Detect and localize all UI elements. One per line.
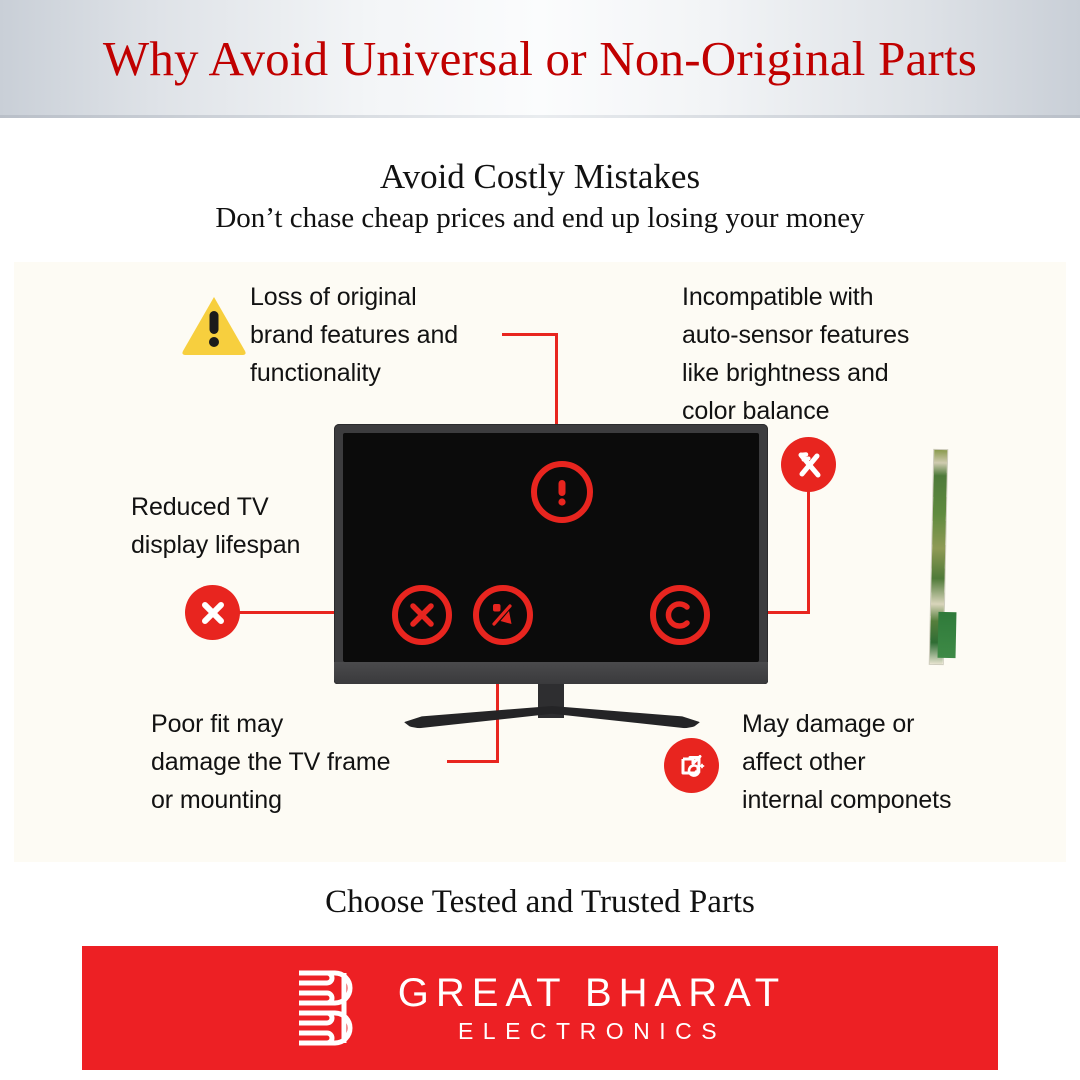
callout-reduced-lifespan: Reduced TV display lifespan <box>131 488 361 564</box>
warning-triangle-icon <box>181 294 247 356</box>
header-banner: Why Avoid Universal or Non-Original Part… <box>0 0 1080 118</box>
callout-incompatible-auto-sensor: Incompatible with auto-sensor features l… <box>682 278 982 430</box>
exclamation-circle-icon <box>531 461 593 523</box>
c-circle-icon <box>650 585 710 645</box>
brand-logo-icon <box>294 966 372 1050</box>
brand-bar: GREAT BHARAT ELECTRONICS <box>82 946 998 1070</box>
percent-down-circle-icon <box>473 585 533 645</box>
footer-tagline: Choose Tested and Trusted Parts <box>0 881 1080 923</box>
export-circle-icon <box>664 738 719 793</box>
intro-subheading: Don’t chase cheap prices and end up losi… <box>0 200 1080 236</box>
brand-subtitle: ELECTRONICS <box>398 1016 787 1046</box>
x-circle-outline-icon <box>392 585 452 645</box>
intro-heading: Avoid Costly Mistakes <box>0 156 1080 198</box>
callout-loss-of-features: Loss of original brand features and func… <box>250 278 530 392</box>
broken-tool-icon <box>781 437 836 492</box>
tv-bottom-bezel <box>334 662 768 684</box>
pcb-connector-tab <box>938 612 957 658</box>
page-title: Why Avoid Universal or Non-Original Part… <box>0 31 1080 87</box>
x-circle-icon <box>185 585 240 640</box>
brand-name: GREAT BHARAT <box>398 970 787 1016</box>
infographic-root: Why Avoid Universal or Non-Original Part… <box>0 0 1080 1080</box>
connector-line-incompatible-vertical <box>807 490 810 614</box>
callout-internal-damage: May damage or affect other internal comp… <box>742 705 1012 819</box>
callout-poor-fit: Poor fit may damage the TV frame or moun… <box>151 705 461 819</box>
